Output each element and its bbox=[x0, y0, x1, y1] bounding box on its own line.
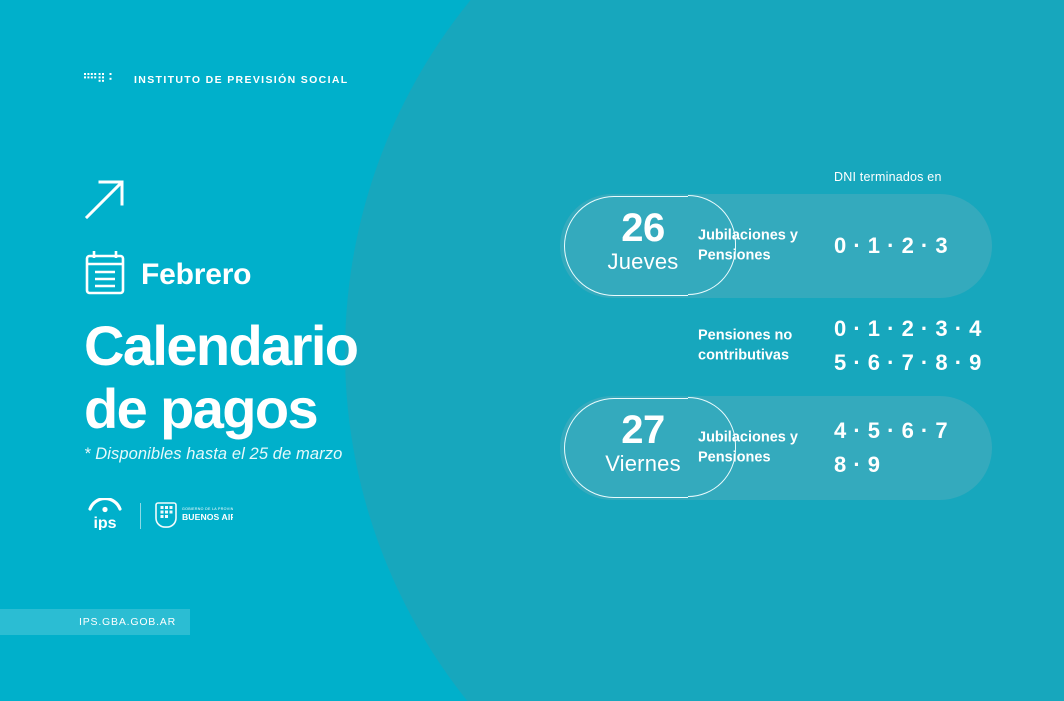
dot-matrix-logo-icon bbox=[84, 71, 122, 89]
page-title: Calendario de pagos bbox=[84, 314, 504, 441]
calendar-icon bbox=[84, 249, 126, 300]
benefit-type-label: Pensiones no contributivas bbox=[698, 326, 792, 367]
brand-bar: INSTITUTO DE PREVISIÓN SOCIAL bbox=[84, 71, 349, 89]
benefit-type-label: Jubilaciones y Pensiones bbox=[698, 428, 798, 469]
dni-column-header: DNI terminados en bbox=[834, 170, 1000, 184]
subtitle-note: * Disponibles hasta el 25 de marzo bbox=[84, 445, 504, 464]
date-day-name: Jueves bbox=[578, 248, 708, 276]
schedule-row: 27 Viernes Jubilaciones y Pensiones 4 · … bbox=[560, 396, 1000, 500]
arrow-up-right-icon bbox=[84, 178, 504, 225]
left-content-column: Febrero Calendario de pagos * Disponible… bbox=[84, 178, 504, 535]
schedule-row: Pensiones no contributivas 0 · 1 · 2 · 3… bbox=[560, 309, 1000, 383]
website-url-text: IPS.GBA.GOB.AR bbox=[79, 616, 176, 628]
svg-text:ips: ips bbox=[93, 515, 116, 530]
date-number: 26 bbox=[578, 208, 708, 248]
date-day-name: Viernes bbox=[578, 450, 708, 478]
brand-name: INSTITUTO DE PREVISIÓN SOCIAL bbox=[134, 74, 349, 86]
svg-text:BUENOS AIRES: BUENOS AIRES bbox=[182, 512, 233, 522]
ips-logo-icon: ips bbox=[84, 498, 126, 535]
buenos-aires-logo-icon: GOBIERNO DE LA PROVINCIA BUENOS AIRES bbox=[155, 499, 233, 534]
month-row: Febrero bbox=[84, 249, 504, 300]
footer-logos: ips GOBIERNO DE LA PROVINCIA BUENOS AIRE… bbox=[84, 498, 504, 535]
date-block: 26 Jueves bbox=[578, 208, 708, 276]
dni-digits: 0 · 1 · 2 · 3 bbox=[834, 229, 948, 263]
date-block: 27 Viernes bbox=[578, 410, 708, 478]
benefit-type-label: Jubilaciones y Pensiones bbox=[698, 226, 798, 267]
date-number: 27 bbox=[578, 410, 708, 450]
month-label: Febrero bbox=[141, 258, 251, 292]
payment-schedule-panel: DNI terminados en 26 Jueves Jubilaciones… bbox=[560, 170, 1000, 511]
svg-text:GOBIERNO DE LA PROVINCIA: GOBIERNO DE LA PROVINCIA bbox=[182, 507, 233, 511]
dni-digits: 4 · 5 · 6 · 7 8 · 9 bbox=[834, 414, 948, 482]
infographic-canvas: INSTITUTO DE PREVISIÓN SOCIAL bbox=[0, 0, 1064, 701]
logo-divider bbox=[140, 503, 141, 529]
schedule-row: 26 Jueves Jubilaciones y Pensiones 0 · 1… bbox=[560, 194, 1000, 298]
website-url-badge: IPS.GBA.GOB.AR bbox=[0, 609, 190, 635]
dni-digits: 0 · 1 · 2 · 3 · 4 5 · 6 · 7 · 8 · 9 bbox=[834, 312, 982, 380]
